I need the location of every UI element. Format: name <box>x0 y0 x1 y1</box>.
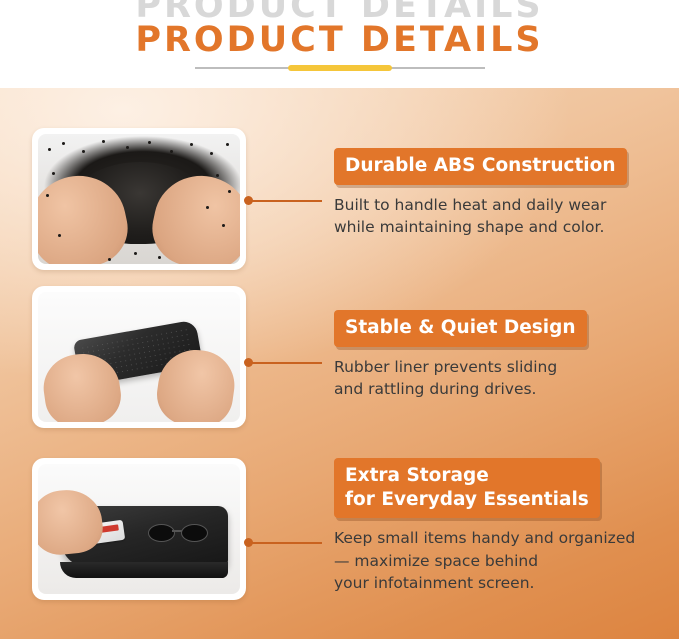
hands-holding-black-tray-photo <box>38 292 240 422</box>
feature-text-block: Extra Storage for Everyday Essentials Ke… <box>334 458 664 595</box>
feature-image-card <box>32 458 246 600</box>
feature-text-block: Durable ABS Construction Built to handle… <box>334 148 664 239</box>
connector-dot <box>244 196 253 205</box>
feature-row: Stable & Quiet Design Rubber liner preve… <box>0 286 679 444</box>
feature-description-line: and rattling during drives. <box>334 378 664 400</box>
feature-row: Extra Storage for Everyday Essentials Ke… <box>0 458 679 630</box>
connector-line <box>246 200 322 202</box>
feature-title-badge: Extra Storage for Everyday Essentials <box>334 458 600 518</box>
feature-description: Keep small items handy and organized — m… <box>334 527 664 594</box>
feature-title-badge: Stable & Quiet Design <box>334 310 587 347</box>
feature-title-line: Extra Storage <box>345 464 589 488</box>
feature-text-block: Stable & Quiet Design Rubber liner preve… <box>334 310 664 401</box>
connector-line <box>246 542 322 544</box>
feature-description-line: your infotainment screen. <box>334 572 664 594</box>
connector-line <box>246 362 322 364</box>
lens-left <box>148 524 175 542</box>
tray-lip <box>60 562 228 578</box>
features-panel: Durable ABS Construction Built to handle… <box>0 88 679 639</box>
feature-description: Rubber liner prevents sliding and rattli… <box>334 356 664 401</box>
feature-description-line: — maximize space behind <box>334 550 664 572</box>
feature-description-line: Built to handle heat and daily wear <box>334 194 664 216</box>
feature-description-line: Keep small items handy and organized <box>334 527 664 549</box>
divider-accent <box>288 65 392 71</box>
tray-with-sunglasses-and-card-photo <box>38 464 240 594</box>
feature-description-line: while maintaining shape and color. <box>334 216 664 238</box>
feature-image-card <box>32 286 246 428</box>
page-title: PRODUCT DETAILS <box>0 20 679 60</box>
page-header: PRODUCT DETAILS PRODUCT DETAILS <box>0 0 679 88</box>
product-details-page: PRODUCT DETAILS PRODUCT DETAILS <box>0 0 679 639</box>
connector-dot <box>244 538 253 547</box>
feature-row: Durable ABS Construction Built to handle… <box>0 128 679 288</box>
feature-description: Built to handle heat and daily wear whil… <box>334 194 664 239</box>
feature-image-card <box>32 128 246 270</box>
feature-title-badge: Durable ABS Construction <box>334 148 627 185</box>
feature-title-line: for Everyday Essentials <box>345 488 589 512</box>
title-divider <box>0 64 679 72</box>
sunglasses-shape <box>148 524 208 542</box>
abs-pellets-in-hands-photo <box>38 134 240 264</box>
connector-dot <box>244 358 253 367</box>
lens-right <box>181 524 208 542</box>
feature-description-line: Rubber liner prevents sliding <box>334 356 664 378</box>
